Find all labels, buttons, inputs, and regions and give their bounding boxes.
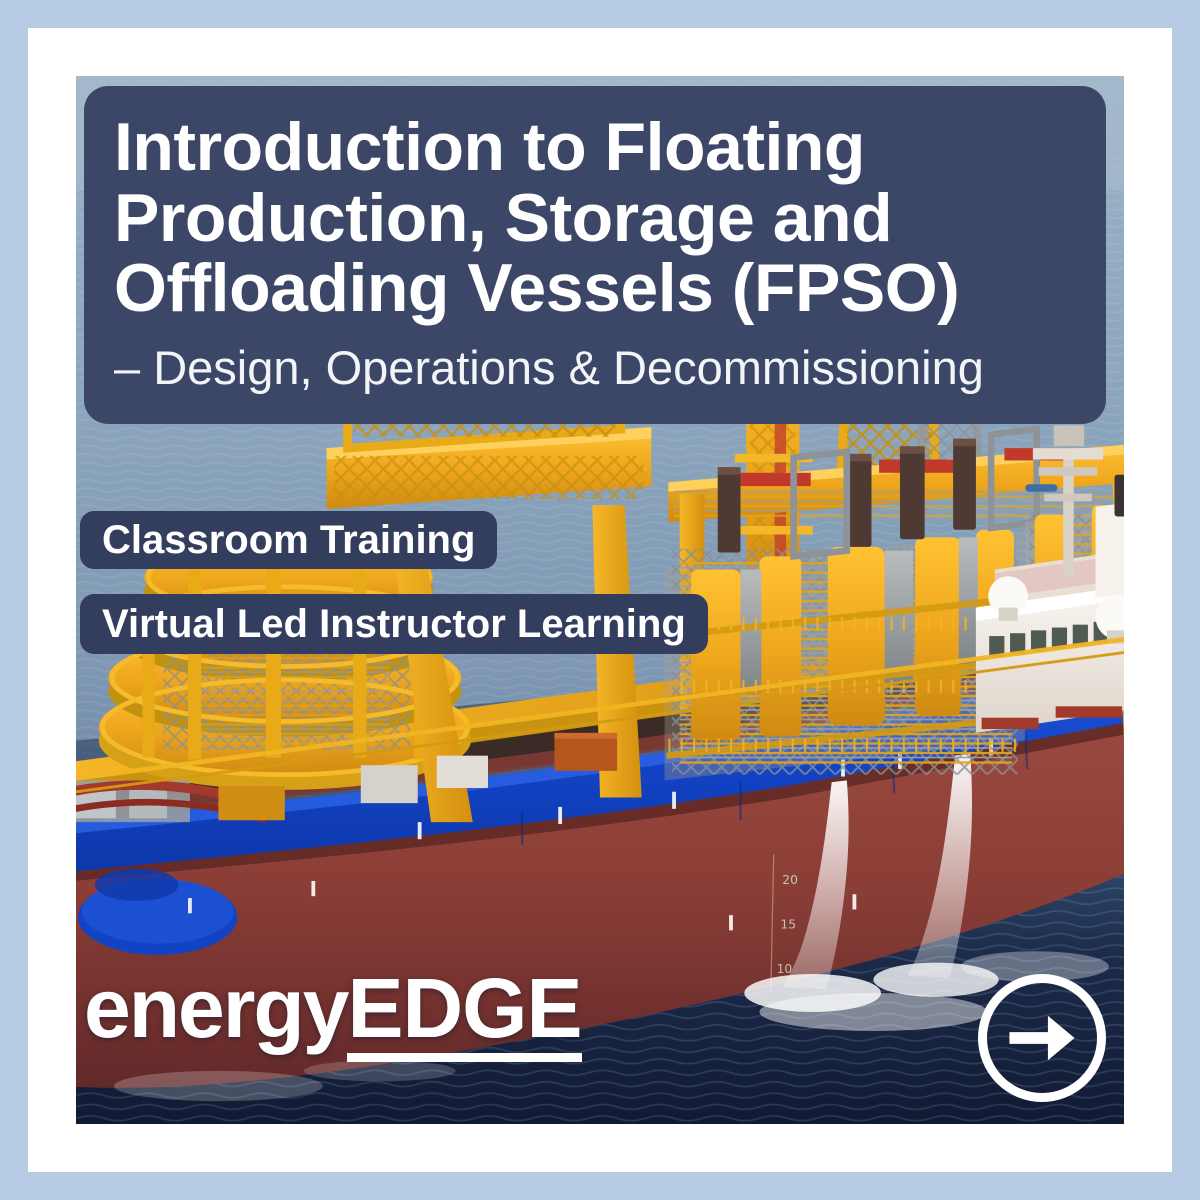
energyedge-logo[interactable]: energy EDGE xyxy=(84,971,582,1062)
page-title: Introduction to Floating Production, Sto… xyxy=(114,112,1076,324)
next-arrow-button[interactable] xyxy=(978,974,1106,1102)
badge-classroom-training-label: Classroom Training xyxy=(102,518,475,563)
badge-classroom-training[interactable]: Classroom Training xyxy=(80,511,497,569)
draft-mark-15: 15 xyxy=(780,917,796,931)
poster-stage: 20 15 10 xyxy=(76,76,1124,1124)
logo-word-energy: energy xyxy=(84,971,347,1047)
white-frame: 20 15 10 xyxy=(28,28,1172,1172)
title-line-3: Offloading Vessels (FPSO) xyxy=(114,253,1076,324)
arrow-right-icon xyxy=(1005,1001,1079,1075)
poster-root: 20 15 10 xyxy=(0,0,1200,1200)
title-line-1: Introduction to Floating xyxy=(114,112,1076,183)
draft-mark-20: 20 xyxy=(782,873,798,887)
course-title-panel: Introduction to Floating Production, Sto… xyxy=(84,86,1106,424)
page-subtitle: – Design, Operations & Decommissioning xyxy=(114,342,1076,394)
logo-word-edge: EDGE xyxy=(347,971,581,1062)
badge-virtual-led-instructor-learning-label: Virtual Led Instructor Learning xyxy=(102,602,686,647)
badge-virtual-led-instructor-learning[interactable]: Virtual Led Instructor Learning xyxy=(80,594,708,654)
title-line-2: Production, Storage and xyxy=(114,183,1076,254)
